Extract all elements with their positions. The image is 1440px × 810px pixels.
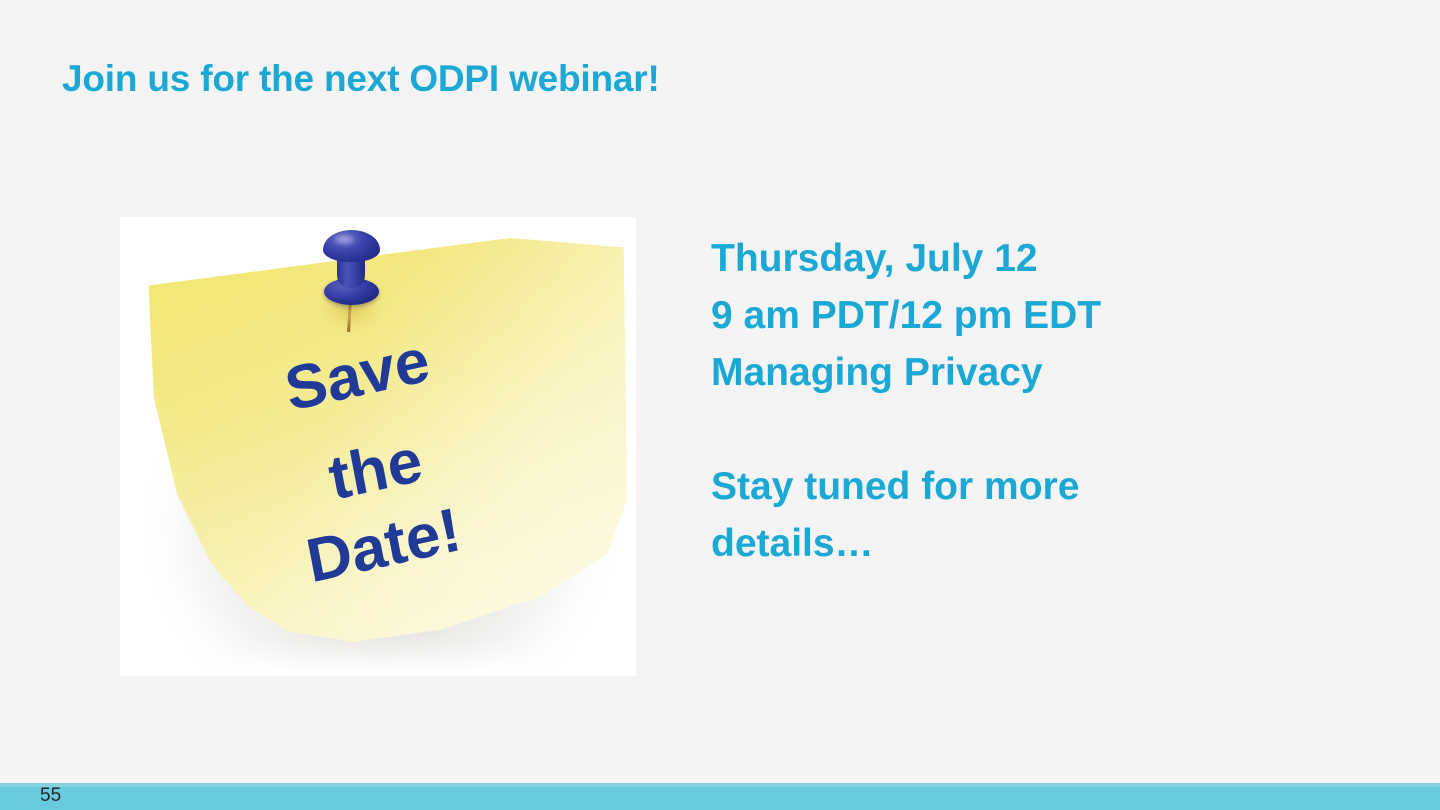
page-number: 55 — [40, 785, 61, 807]
pushpin-highlight — [335, 235, 354, 244]
slide: Join us for the next ODPI webinar! Save … — [0, 0, 1440, 810]
followup-line-1: Stay tuned for more — [711, 458, 1231, 515]
page-title: Join us for the next ODPI webinar! — [62, 58, 660, 100]
note-line-date: Date! — [301, 494, 467, 597]
webinar-details: Thursday, July 12 9 am PDT/12 pm EDT Man… — [711, 230, 1231, 572]
followup-line-2: details… — [711, 515, 1231, 572]
detail-line-time: 9 am PDT/12 pm EDT — [711, 287, 1231, 344]
pushpin-icon — [304, 224, 398, 336]
footer-bar-accent — [0, 783, 1440, 787]
note-line-the: the — [323, 425, 428, 514]
pushpin-head — [323, 230, 380, 262]
footer-bar — [0, 783, 1440, 810]
save-the-date-image: Save the Date! — [120, 217, 636, 676]
detail-line-date: Thursday, July 12 — [711, 230, 1231, 287]
detail-line-topic: Managing Privacy — [711, 344, 1231, 401]
note-line-save: Save — [280, 325, 436, 426]
detail-spacer — [711, 401, 1231, 458]
